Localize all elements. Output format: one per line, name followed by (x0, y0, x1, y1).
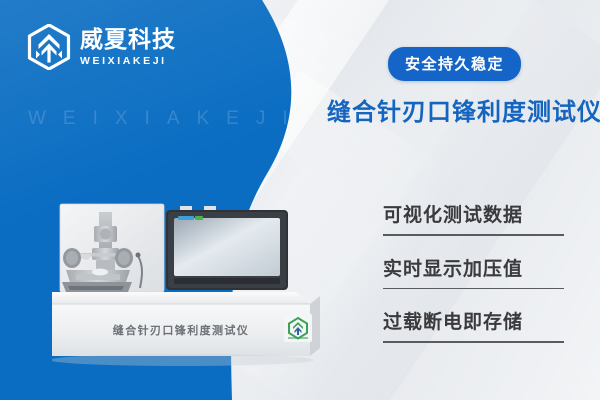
feature-underline (383, 341, 564, 343)
feature-underline (383, 234, 564, 236)
feature-label: 实时显示加压值 (383, 254, 573, 281)
page-title: 缝合针刃口锋利度测试仪 (327, 92, 600, 127)
brand-logo: 威夏科技 WEIXIAKEJI (27, 24, 176, 70)
feature-underline (383, 288, 564, 290)
feature-item: 过载断电即存储 (383, 307, 573, 343)
hero-badge: 安全持久稳定 (388, 47, 521, 81)
feature-list: 可视化测试数据 实时显示加压值 过载断电即存储 (383, 200, 573, 361)
feature-label: 可视化测试数据 (383, 200, 573, 227)
brand-name-en: WEIXIAKEJI (80, 56, 176, 67)
product-machine-image: 缝合针刃口锋利度测试仪 (52, 196, 342, 376)
feature-item: 实时显示加压值 (383, 254, 573, 290)
green-company-seal-icon (284, 314, 312, 342)
machine-front-label: 缝合针刃口锋利度测试仪 (113, 323, 249, 337)
hexagon-shield-arrow-logo-icon (27, 24, 71, 70)
brand-name-cn: 威夏科技 (80, 28, 176, 51)
brand-logo-text: 威夏科技 WEIXIAKEJI (80, 28, 176, 67)
feature-item: 可视化测试数据 (383, 200, 573, 236)
product-banner: 威夏科技 WEIXIAKEJI WEIXIAKEJI 安全持久稳定 缝合针刃口锋… (0, 0, 600, 400)
feature-label: 过载断电即存储 (383, 307, 573, 334)
brand-watermark: WEIXIAKEJI (28, 108, 305, 130)
